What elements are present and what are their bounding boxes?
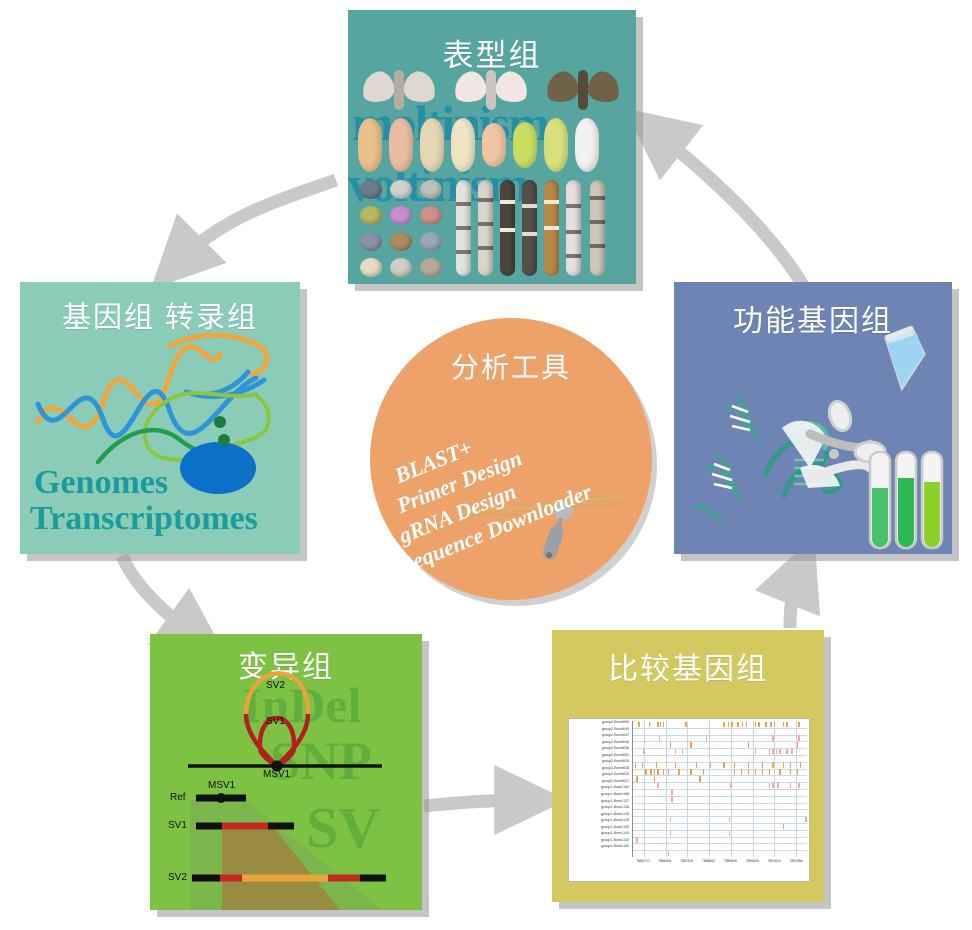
- heatmap-variant-mark: [690, 769, 691, 775]
- heatmap-x-tick: 7888662: [702, 859, 715, 863]
- heatmap-variant-mark: [678, 769, 679, 775]
- heatmap-variant-mark: [758, 722, 759, 728]
- heatmap-vgrid: [753, 721, 754, 857]
- heatmap-variant-mark: [746, 722, 747, 728]
- comparative-genomics-heatmap[interactable]: group2-BomW50group2-BomW49group2-BomW47g…: [568, 718, 810, 882]
- heatmap-variant-mark: [762, 769, 763, 775]
- heatmap-variant-mark: [755, 769, 756, 775]
- heatmap-hgrid: [633, 748, 807, 749]
- heatmap-hgrid: [633, 769, 807, 770]
- heatmap-variant-mark: [797, 769, 798, 775]
- moth-photo-row: [362, 68, 622, 116]
- heatmap-variant-mark: [657, 769, 658, 775]
- heatmap-variant-mark: [675, 749, 676, 755]
- heatmap-row-label: group1-BomL100: [569, 843, 631, 850]
- heatmap-variant-mark: [742, 722, 743, 728]
- moth-image: [454, 68, 528, 112]
- heatmap-variant-mark: [657, 722, 658, 728]
- heatmap-vgrid: [666, 721, 667, 857]
- track-label-sv2: SV2: [168, 872, 187, 883]
- moth-image: [362, 68, 436, 112]
- heatmap-variant-mark: [730, 783, 731, 789]
- heatmap-variant-mark: [668, 851, 669, 857]
- heatmap-hgrid: [633, 837, 807, 838]
- heatmap-variant-mark: [772, 735, 773, 741]
- heatmap-variant-mark: [654, 776, 655, 782]
- heatmap-variant-mark: [682, 749, 683, 755]
- microtube-icon: [886, 328, 924, 388]
- heatmap-variant-mark: [774, 722, 775, 728]
- heatmap-variant-mark: [723, 762, 724, 768]
- heatmap-x-tick: 7889646: [724, 859, 737, 863]
- heatmap-variant-mark: [636, 776, 637, 782]
- heatmap-x-tick: 7887678: [680, 859, 693, 863]
- heatmap-variant-mark: [659, 735, 660, 741]
- heatmap-x-tick: 7885710: [636, 859, 649, 863]
- heatmap-variant-mark: [805, 817, 806, 823]
- marker-label-msv1: MSV1: [208, 780, 235, 791]
- heatmap-variant-mark: [769, 769, 770, 775]
- heatmap-variant-mark: [783, 824, 784, 830]
- heatmap-variant-mark: [699, 776, 700, 782]
- heatmap-variant-mark: [790, 769, 791, 775]
- moth-image: [546, 68, 620, 112]
- heatmap-variant-mark: [729, 830, 730, 836]
- heatmap-variant-mark: [772, 783, 773, 789]
- heatmap-variant-mark: [706, 735, 707, 741]
- heatmap-variant-mark: [798, 735, 799, 741]
- heatmap-variant-mark: [769, 783, 770, 789]
- heatmap-vgrid: [687, 721, 688, 857]
- diagram-canvas: 表型组 moltinism voltinism: [0, 0, 972, 930]
- heatmap-variant-mark: [671, 796, 672, 802]
- heatmap-hgrid: [633, 762, 807, 763]
- heatmap-variant-mark: [779, 769, 780, 775]
- arrow-funcgen-to-phenome: [655, 132, 806, 290]
- heatmap-variant-mark: [791, 749, 792, 755]
- arrow-phenome-to-genome: [178, 180, 336, 262]
- heatmap-variant-mark: [703, 769, 704, 775]
- heatmap-x-tick: 7891614: [768, 859, 781, 863]
- heatmap-variant-mark: [660, 722, 661, 728]
- heatmap-variant-mark: [772, 749, 773, 755]
- heatmap-variant-mark: [663, 769, 664, 775]
- larva-photo-row: [456, 180, 626, 278]
- heatmap-variant-mark: [671, 790, 672, 796]
- heatmap-variant-mark: [786, 722, 787, 728]
- heatmap-variant-mark: [748, 742, 749, 748]
- analysis-tools-circle[interactable]: 分析工具 BLAST+ Primer Design gRNA Design Se…: [370, 318, 652, 600]
- heatmap-x-axis-ticks: 7885710788669478876787888662788964678906…: [632, 859, 807, 871]
- heatmap-variant-mark: [783, 722, 784, 728]
- heatmap-variant-mark: [663, 722, 664, 728]
- panel-compgen-title: 比较基因组: [552, 644, 824, 688]
- heatmap-variant-mark: [731, 722, 732, 728]
- heatmap-variant-mark: [690, 742, 691, 748]
- heatmap-row-labels: group2-BomW50group2-BomW49group2-BomW47g…: [569, 719, 631, 859]
- panel-comparative-genomics[interactable]: 比较基因组 group2-BomW50group2-BomW49group2-B…: [552, 630, 824, 902]
- heatmap-hgrid: [633, 816, 807, 817]
- arrow-genome-to-variome: [122, 556, 196, 636]
- arc-label-msv1: MSV1: [263, 769, 290, 780]
- heatmap-variant-mark: [770, 722, 771, 728]
- heatmap-variant-mark: [755, 722, 756, 728]
- heatmap-variant-mark: [728, 722, 729, 728]
- heatmap-variant-mark: [798, 783, 799, 789]
- heatmap-variant-mark: [656, 762, 657, 768]
- heatmap-variant-mark: [748, 769, 749, 775]
- panel-variome[interactable]: 变异组 InDel SNP SV: [150, 634, 422, 910]
- heatmap-variant-mark: [649, 722, 650, 728]
- heatmap-variant-mark: [790, 762, 791, 768]
- heatmap-variant-mark: [650, 769, 651, 775]
- heatmap-variant-mark: [723, 722, 724, 728]
- heatmap-variant-mark: [670, 817, 671, 823]
- heatmap-hgrid: [633, 775, 807, 776]
- heatmap-variant-mark: [790, 783, 791, 789]
- heatmap-hgrid: [633, 728, 807, 729]
- heatmap-variant-mark: [657, 783, 658, 789]
- heatmap-variant-mark: [737, 722, 738, 728]
- genome-label-transcriptomes: Transcriptomes: [30, 500, 258, 538]
- heatmap-hgrid: [633, 741, 807, 742]
- heatmap-variant-mark: [635, 762, 636, 768]
- heatmap-variant-mark: [777, 783, 778, 789]
- heatmap-variant-mark: [670, 742, 671, 748]
- heatmap-hgrid: [633, 782, 807, 783]
- track-label-sv1: SV1: [168, 820, 187, 831]
- heatmap-hgrid: [633, 789, 807, 790]
- heatmap-hgrid: [633, 843, 807, 844]
- panel-functional-genomics[interactable]: 功能基因组: [674, 282, 952, 554]
- track-label-ref: Ref: [170, 792, 186, 803]
- heatmap-hgrid: [633, 809, 807, 810]
- heatmap-vgrid: [731, 721, 732, 857]
- arc-label-sv1: SV1: [266, 716, 285, 727]
- heatmap-variant-mark: [645, 769, 646, 775]
- heatmap-variant-mark: [734, 769, 735, 775]
- heatmap-x-tick: 7886694: [658, 859, 671, 863]
- heatmap-variant-mark: [783, 762, 784, 768]
- panel-phenome[interactable]: 表型组 moltinism voltinism: [348, 10, 636, 284]
- heatmap-x-tick: 7890630: [746, 859, 759, 863]
- heatmap-variant-mark: [800, 762, 801, 768]
- arrow-compgen-to-funcgen: [790, 572, 800, 628]
- heatmap-hgrid: [633, 850, 807, 851]
- heatmap-variant-mark: [762, 762, 763, 768]
- crispr-illustration: [674, 282, 952, 554]
- heatmap-variant-mark: [748, 762, 749, 768]
- heatmap-variant-mark: [798, 722, 799, 728]
- heatmap-variant-mark: [685, 722, 686, 728]
- cocoon-photo-row: [358, 118, 628, 176]
- heatmap-variant-mark: [769, 749, 770, 755]
- heatmap-variant-mark: [668, 769, 669, 775]
- heatmap-hgrid: [633, 803, 807, 804]
- heatmap-variant-mark: [734, 762, 735, 768]
- arrow-variome-to-compgen: [424, 800, 528, 806]
- heatmap-vgrid: [709, 721, 710, 857]
- heatmap-variant-mark: [670, 830, 671, 836]
- heatmap-variant-mark: [797, 742, 798, 748]
- heatmap-variant-mark: [779, 749, 780, 755]
- heatmap-variant-mark: [765, 722, 766, 728]
- heatmap-variant-mark: [675, 762, 676, 768]
- heatmap-variant-mark: [636, 837, 637, 843]
- heatmap-vgrid: [774, 721, 775, 857]
- heatmap-variant-mark: [786, 749, 787, 755]
- heatmap-variant-mark: [643, 749, 644, 755]
- heatmap-variant-mark: [776, 749, 777, 755]
- heatmap-variant-mark: [772, 762, 773, 768]
- test-tube-rack-icon: [870, 452, 942, 548]
- panel-genome-transcriptome[interactable]: 基因组 转录组 Genomes Transcriptomes: [20, 282, 300, 554]
- arc-label-sv2: SV2: [266, 680, 285, 691]
- genome-label-genomes: Genomes: [34, 464, 168, 502]
- heatmap-plot-area[interactable]: [632, 721, 807, 857]
- heatmap-variant-mark: [642, 762, 643, 768]
- heatmap-hgrid: [633, 796, 807, 797]
- heatmap-variant-mark: [638, 722, 639, 728]
- heatmap-x-tick: 7892598: [789, 859, 802, 863]
- heatmap-variant-mark: [654, 769, 655, 775]
- heatmap-hgrid: [633, 830, 807, 831]
- heatmap-variant-mark: [755, 749, 756, 755]
- heatmap-variant-mark: [729, 817, 730, 823]
- heatmap-variant-mark: [696, 762, 697, 768]
- heatmap-hgrid: [633, 755, 807, 756]
- heatmap-variant-mark: [741, 769, 742, 775]
- heatmap-variant-mark: [710, 762, 711, 768]
- heatmap-vgrid: [644, 721, 645, 857]
- heatmap-hgrid: [633, 823, 807, 824]
